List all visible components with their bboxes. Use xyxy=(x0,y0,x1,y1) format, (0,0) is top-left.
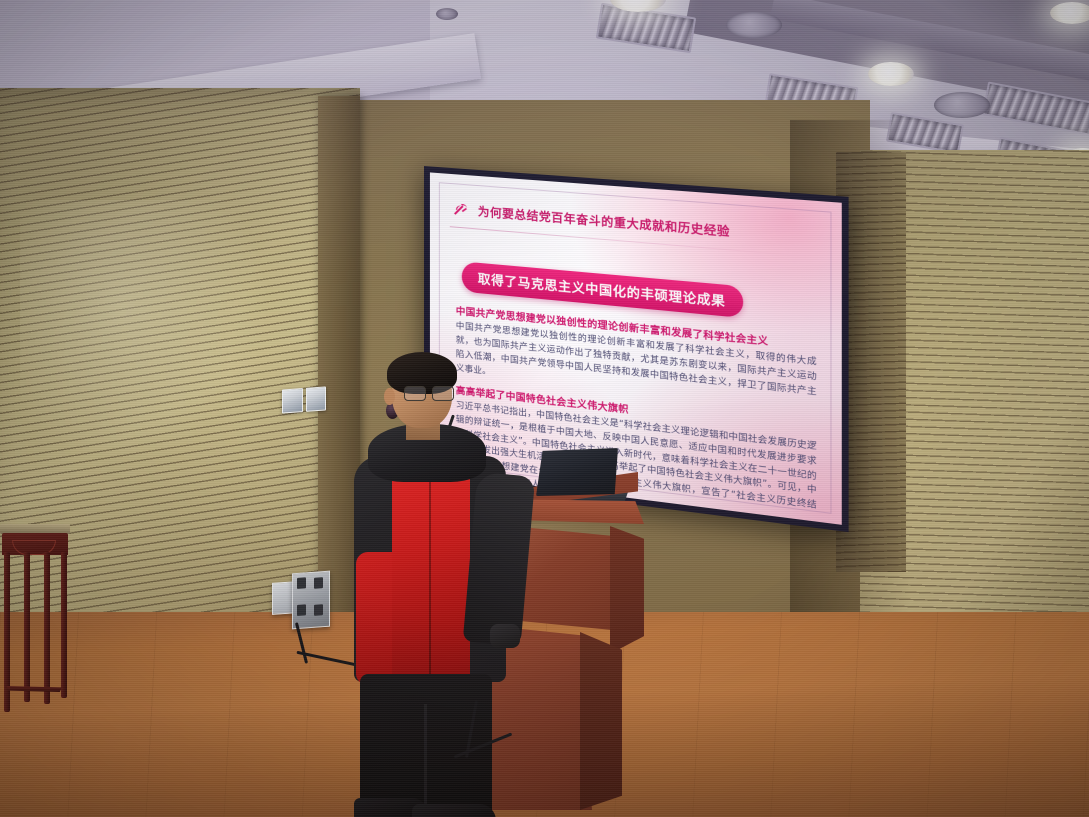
plant-stand-leg xyxy=(44,552,50,704)
lectern-side-panel xyxy=(610,526,644,654)
outlet-socket xyxy=(297,604,306,616)
outlet-socket xyxy=(314,577,323,589)
outlet-socket xyxy=(314,604,323,616)
wooden-plant-stand xyxy=(0,524,72,724)
photograph-scene: 为何要总结党百年奋斗的重大成就和历史经验 取得了马克思主义中国化的丰硕理论成果 … xyxy=(0,0,1089,817)
wall-control-panel-left[interactable] xyxy=(282,388,303,413)
lectern-column-side xyxy=(580,632,622,810)
plant-stand-leg xyxy=(24,552,30,702)
plant-stand-leg xyxy=(61,552,67,698)
cpc-hammer-sickle-emblem xyxy=(452,200,469,218)
presenter-jacket-chest xyxy=(392,464,470,682)
outlet-socket xyxy=(297,577,306,589)
wall-control-panel-right[interactable] xyxy=(306,386,327,411)
outlet-socket xyxy=(273,591,286,600)
eyeglasses-icon xyxy=(404,386,454,400)
presenter-jacket-zipper xyxy=(429,468,431,674)
wall-control-panel[interactable] xyxy=(282,386,326,413)
presenter-hand xyxy=(490,624,520,648)
presenter-shoe xyxy=(412,804,496,817)
plant-stand-stretcher xyxy=(6,686,62,692)
laptop-computer[interactable] xyxy=(536,448,618,496)
power-outlet-box-right[interactable] xyxy=(292,571,330,630)
presenter-trouser-seam xyxy=(424,704,427,814)
presenter-person xyxy=(330,352,540,817)
presenter-ear xyxy=(384,388,395,405)
